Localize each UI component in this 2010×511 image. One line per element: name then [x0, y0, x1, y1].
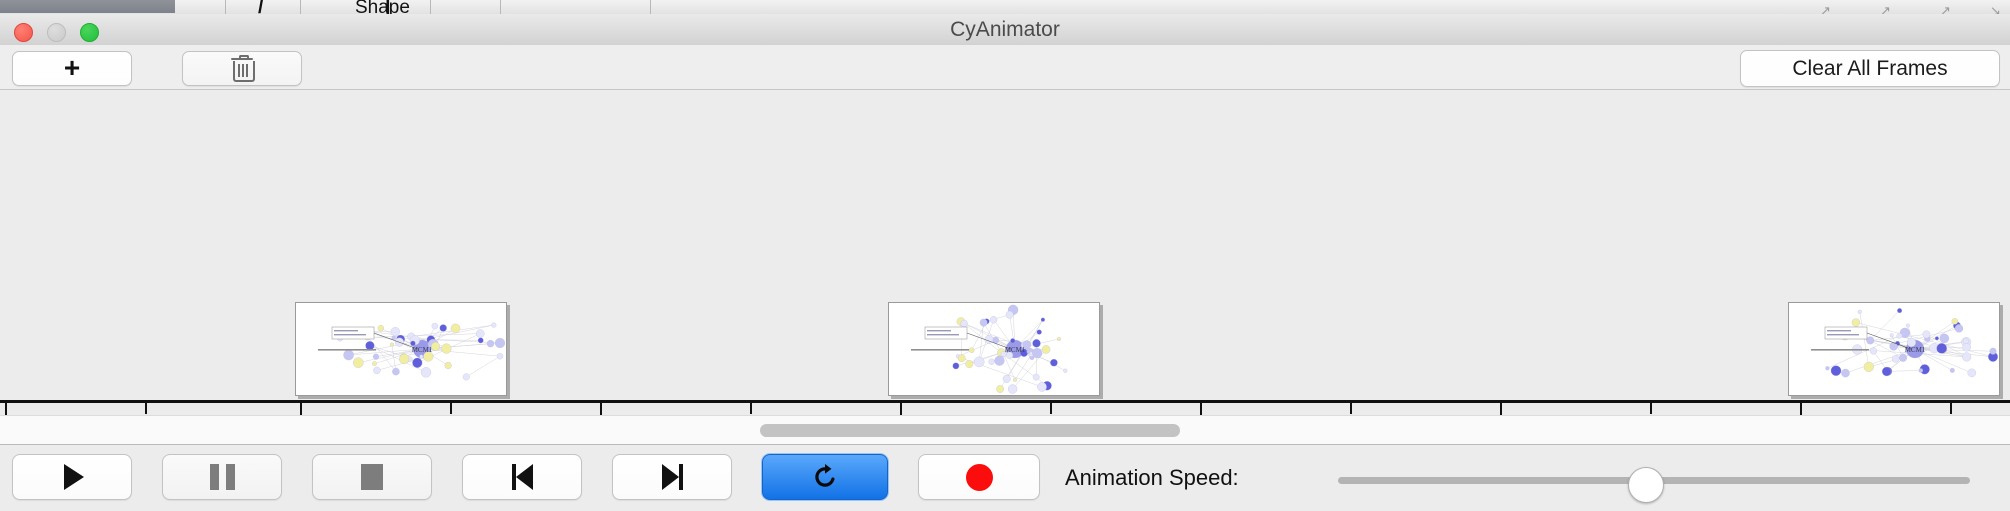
- timeline-frame[interactable]: MCM1: [295, 302, 505, 394]
- axis-tick-minor: [1350, 403, 1352, 414]
- axis-tick-major: [300, 403, 302, 415]
- animation-speed-label: Animation Speed:: [1065, 465, 1239, 491]
- axis-tick-major: [1200, 403, 1202, 415]
- page-title: CyAnimator: [0, 14, 2010, 45]
- plus-icon: +: [64, 54, 80, 82]
- skip-forward-icon: [662, 464, 683, 490]
- frame-toolbar: + Clear All Frames: [0, 45, 2010, 90]
- cyanimator-window: / | Shape ↗ ↗ ↗ ↘ CyAnimator + C: [0, 0, 2010, 510]
- timeline-frame[interactable]: MCM1: [1788, 302, 1998, 394]
- record-icon: [966, 464, 993, 491]
- loop-icon: [810, 462, 840, 492]
- pause-button[interactable]: [162, 454, 282, 500]
- clear-all-frames-button[interactable]: Clear All Frames: [1740, 50, 2000, 87]
- svg-text:MCM1: MCM1: [1905, 346, 1926, 354]
- axis-tick-major: [1500, 403, 1502, 415]
- loop-button[interactable]: [762, 454, 888, 500]
- axis-tick-major: [1800, 403, 1802, 415]
- axis-tick-minor: [145, 403, 147, 414]
- axis-tick-minor: [750, 403, 752, 414]
- frame-thumbnail[interactable]: MCM1: [1788, 302, 2000, 396]
- axis-tick-major: [900, 403, 902, 415]
- svg-text:MCM1: MCM1: [1005, 346, 1026, 354]
- record-button[interactable]: [918, 454, 1040, 500]
- clear-all-frames-label: Clear All Frames: [1792, 57, 1947, 81]
- frame-thumbnail[interactable]: MCM1: [888, 302, 1100, 396]
- axis-tick-minor: [450, 403, 452, 414]
- play-icon: [60, 464, 84, 490]
- timeline-scrollbar[interactable]: [0, 415, 2010, 445]
- stop-icon: [361, 464, 383, 490]
- skip-back-icon: [512, 464, 533, 490]
- skip-end-button[interactable]: [612, 454, 732, 500]
- skip-start-button[interactable]: [462, 454, 582, 500]
- frame-thumbnail[interactable]: MCM1: [295, 302, 507, 396]
- background-window-strip: / | Shape ↗ ↗ ↗ ↘: [0, 0, 2010, 14]
- pause-icon: [210, 464, 235, 490]
- timeline-panel[interactable]: MCM1MCM1MCM1 12131415161718 Seconds: [0, 90, 2010, 415]
- axis-tick-minor: [1050, 403, 1052, 414]
- title-bar: CyAnimator: [0, 14, 2010, 46]
- axis-tick-major: [5, 403, 7, 415]
- background-titlebar-fragment: [0, 0, 175, 13]
- transport-bar: Animation Speed:: [0, 444, 2010, 511]
- axis-tick-minor: [1650, 403, 1652, 414]
- add-frame-button[interactable]: +: [12, 51, 132, 86]
- background-window-label: Shape: [355, 0, 410, 14]
- axis-tick-major: [600, 403, 602, 415]
- trash-icon: [231, 56, 253, 82]
- play-button[interactable]: [12, 454, 132, 500]
- timeline-frame[interactable]: MCM1: [888, 302, 1098, 394]
- svg-text:MCM1: MCM1: [412, 346, 433, 354]
- stop-button[interactable]: [312, 454, 432, 500]
- axis-tick-minor: [1950, 403, 1952, 414]
- animation-speed-slider-thumb[interactable]: [1628, 467, 1664, 503]
- delete-frame-button[interactable]: [182, 51, 302, 86]
- scrollbar-thumb[interactable]: [760, 424, 1180, 437]
